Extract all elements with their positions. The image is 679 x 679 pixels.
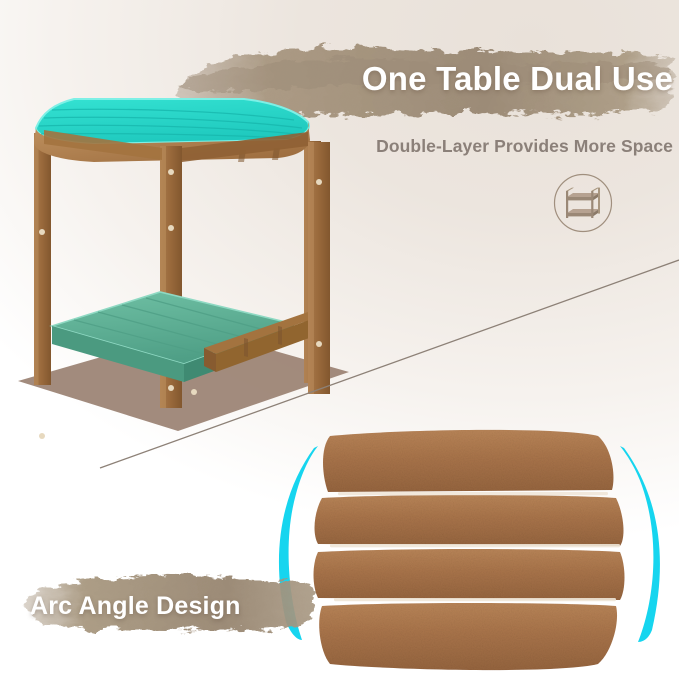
- tabletop-closeup: [268, 424, 679, 679]
- subtitle-text: Double-Layer Provides More Space: [330, 134, 673, 158]
- marketing-image: One Table Dual Use Double-Layer Provides…: [0, 0, 679, 679]
- arc-angle-design-label: Arc Angle Design: [30, 589, 300, 623]
- two-tier-table-icon: [552, 172, 614, 234]
- tabletop-slats: [314, 430, 625, 670]
